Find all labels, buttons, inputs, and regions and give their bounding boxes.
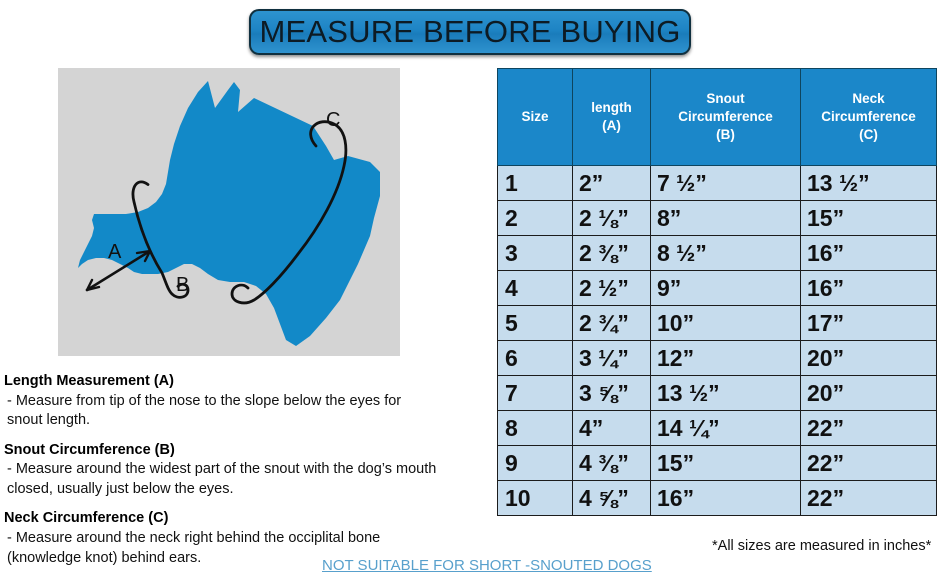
table-row: 32 ⅜”8 ½”16” xyxy=(498,236,937,271)
all-sizes-inches-note: *All sizes are measured in inches* xyxy=(712,538,931,554)
instruction-heading: Neck Circumference (C) xyxy=(4,509,496,529)
cell-neck-circumference: 15” xyxy=(801,201,937,236)
instruction-block-length: Length Measurement (A) - Measure from ti… xyxy=(4,372,496,431)
cell-snout-circumference: 16” xyxy=(651,481,801,516)
instruction-block-snout: Snout Circumference (B) - Measure around… xyxy=(4,441,496,500)
dog-measurement-diagram: A B C xyxy=(58,68,400,356)
measurement-instructions: Length Measurement (A) - Measure from ti… xyxy=(4,372,496,578)
cell-size: 8 xyxy=(498,411,573,446)
instruction-heading: Snout Circumference (B) xyxy=(4,441,496,461)
column-header-size: Size xyxy=(498,69,573,166)
label-a: A xyxy=(108,241,122,263)
header-line-1: Snout xyxy=(706,91,744,106)
cell-length: 2 ⅛” xyxy=(573,201,651,236)
table-row: 52 ¾”10”17” xyxy=(498,306,937,341)
cell-neck-circumference: 22” xyxy=(801,411,937,446)
header-line-2: Circumference xyxy=(678,109,773,124)
header-line-1: Neck xyxy=(852,91,884,106)
cell-size: 6 xyxy=(498,341,573,376)
column-header-length: length (A) xyxy=(573,69,651,166)
cell-neck-circumference: 13 ½” xyxy=(801,166,937,201)
header-line-1: length xyxy=(591,100,632,115)
cell-size: 7 xyxy=(498,376,573,411)
table-row: 63 ¼”12”20” xyxy=(498,341,937,376)
dog-head-illustration: A B C xyxy=(58,68,400,356)
size-chart-table: Size length (A) Snout Circumference (B) … xyxy=(497,68,937,516)
cell-snout-circumference: 15” xyxy=(651,446,801,481)
column-header-neck-circumference: Neck Circumference (C) xyxy=(801,69,937,166)
page-title: MEASURE BEFORE BUYING xyxy=(259,14,680,50)
cell-size: 3 xyxy=(498,236,573,271)
cell-length: 3 ¼” xyxy=(573,341,651,376)
cell-length: 4” xyxy=(573,411,651,446)
instruction-line-2: closed, usually just below the eyes. xyxy=(4,480,496,500)
cell-neck-circumference: 22” xyxy=(801,446,937,481)
header-line-2: (A) xyxy=(602,118,621,133)
label-b: B xyxy=(176,274,189,296)
table-row: 22 ⅛”8”15” xyxy=(498,201,937,236)
table-row: 42 ½”9”16” xyxy=(498,271,937,306)
cell-length: 3 ⅝” xyxy=(573,376,651,411)
table-row: 12”7 ½”13 ½” xyxy=(498,166,937,201)
cell-length: 2 ⅜” xyxy=(573,236,651,271)
not-suitable-note[interactable]: NOT SUITABLE FOR SHORT -SNOUTED DOGS xyxy=(322,557,652,574)
cell-neck-circumference: 16” xyxy=(801,236,937,271)
cell-length: 2” xyxy=(573,166,651,201)
cell-size: 4 xyxy=(498,271,573,306)
cell-length: 4 ⅝” xyxy=(573,481,651,516)
header-line-2: Circumference xyxy=(821,109,916,124)
cell-neck-circumference: 17” xyxy=(801,306,937,341)
cell-snout-circumference: 13 ½” xyxy=(651,376,801,411)
table-row: 73 ⅝”13 ½”20” xyxy=(498,376,937,411)
cell-length: 2 ½” xyxy=(573,271,651,306)
cell-size: 2 xyxy=(498,201,573,236)
cell-snout-circumference: 8 ½” xyxy=(651,236,801,271)
cell-length: 2 ¾” xyxy=(573,306,651,341)
cell-snout-circumference: 14 ¼” xyxy=(651,411,801,446)
header-line-3: (C) xyxy=(859,127,878,142)
cell-snout-circumference: 8” xyxy=(651,201,801,236)
cell-length: 4 ⅜” xyxy=(573,446,651,481)
title-banner: MEASURE BEFORE BUYING xyxy=(249,9,691,55)
instruction-line-1: - Measure from tip of the nose to the sl… xyxy=(4,392,496,412)
label-c: C xyxy=(326,109,340,131)
instruction-line-2: snout length. xyxy=(4,411,496,431)
cell-neck-circumference: 20” xyxy=(801,341,937,376)
cell-snout-circumference: 10” xyxy=(651,306,801,341)
cell-size: 1 xyxy=(498,166,573,201)
instruction-line-1: - Measure around the widest part of the … xyxy=(4,460,496,480)
table-row: 94 ⅜”15”22” xyxy=(498,446,937,481)
cell-size: 10 xyxy=(498,481,573,516)
instruction-heading: Length Measurement (A) xyxy=(4,372,496,392)
table-row: 84”14 ¼”22” xyxy=(498,411,937,446)
header-line-1: Size xyxy=(521,109,548,124)
cell-snout-circumference: 7 ½” xyxy=(651,166,801,201)
cell-neck-circumference: 22” xyxy=(801,481,937,516)
column-header-snout-circumference: Snout Circumference (B) xyxy=(651,69,801,166)
cell-neck-circumference: 20” xyxy=(801,376,937,411)
instruction-line-1: - Measure around the neck right behind t… xyxy=(4,529,496,549)
table-header-row: Size length (A) Snout Circumference (B) … xyxy=(498,69,937,166)
cell-neck-circumference: 16” xyxy=(801,271,937,306)
header-line-3: (B) xyxy=(716,127,735,142)
cell-snout-circumference: 12” xyxy=(651,341,801,376)
cell-snout-circumference: 9” xyxy=(651,271,801,306)
table-row: 104 ⅝”16”22” xyxy=(498,481,937,516)
cell-size: 9 xyxy=(498,446,573,481)
cell-size: 5 xyxy=(498,306,573,341)
